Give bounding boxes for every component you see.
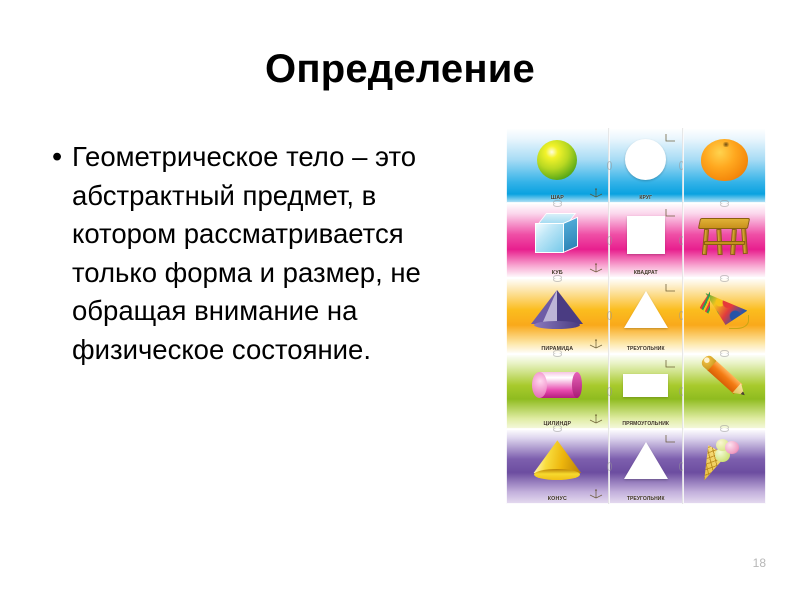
- right-angle-glyph-icon: [664, 208, 677, 219]
- flat-shape-label: КРУГ: [610, 195, 682, 201]
- right-angle-glyph-icon: [664, 434, 677, 445]
- orange-fruit-icon: [684, 132, 765, 187]
- bullet-icon: •: [52, 138, 72, 176]
- puzzle-nub-icon: [553, 429, 562, 433]
- solid-shape-cell: КОНУС: [506, 429, 609, 504]
- table-row: КОНУС ТРЕУГОЛЬНИК: [506, 429, 766, 504]
- flat-shape-label: ПРЯМОУГОЛЬНИК: [610, 421, 682, 427]
- puzzle-nub-icon: [720, 429, 729, 433]
- solid-shape-cell: ШАР: [506, 128, 609, 203]
- table-row: ЦИЛИНДР ПРЯМОУГОЛЬНИК: [506, 354, 766, 429]
- puzzle-nub-icon: [553, 278, 562, 282]
- real-object-cell: [683, 128, 766, 203]
- puzzle-nub-icon: [720, 203, 729, 207]
- right-angle-glyph-icon: [664, 283, 677, 294]
- page-title: Определение: [0, 47, 800, 91]
- cone-3d-icon: [507, 433, 608, 488]
- real-object-cell: [683, 429, 766, 504]
- sphere-3d-icon: [507, 132, 608, 187]
- definition-paragraph: Геометрическое тело – это абстрактный пр…: [72, 138, 482, 369]
- puzzle-nub-icon: [720, 278, 729, 282]
- real-object-cell: [683, 354, 766, 429]
- wooden-stool-icon: [684, 207, 765, 262]
- right-angle-glyph-icon: [664, 133, 677, 144]
- puzzle-nub-icon: [553, 354, 562, 358]
- puzzle-nub-icon: [720, 354, 729, 358]
- flat-shape-cell: ПРЯМОУГОЛЬНИК: [609, 354, 683, 429]
- cylinder-3d-icon: [507, 358, 608, 413]
- puzzle-nub-icon: [553, 203, 562, 207]
- solid-shape-cell: ПИРАМИДА: [506, 278, 609, 353]
- ice-cream-cone-icon: [684, 433, 765, 488]
- table-row: ШАР КРУГ: [506, 128, 766, 203]
- cube-3d-icon: [507, 207, 608, 262]
- solid-shape-cell: ЦИЛИНДР: [506, 354, 609, 429]
- flat-shape-label: КВАДРАТ: [610, 270, 682, 276]
- table-row: КУБ КВАДРАТ: [506, 203, 766, 278]
- list-item: • Геометрическое тело – это абстрактный …: [52, 138, 482, 369]
- flat-shape-cell: КРУГ: [609, 128, 683, 203]
- solid-shape-cell: КУБ: [506, 203, 609, 278]
- right-angle-glyph-icon: [664, 359, 677, 370]
- solid-shape-label: ПИРАМИДА: [507, 346, 608, 352]
- real-object-cell: [683, 203, 766, 278]
- solid-shape-label: КОНУС: [507, 496, 608, 502]
- slide-number: 18: [753, 556, 766, 570]
- pyramid-3d-icon: [507, 282, 608, 337]
- flat-shape-cell: КВАДРАТ: [609, 203, 683, 278]
- table-row: ПИРАМИДА ТРЕУГОЛЬНИК: [506, 278, 766, 353]
- flat-shape-label: ТРЕУГОЛЬНИК: [610, 496, 682, 502]
- flat-shape-label: ТРЕУГОЛЬНИК: [610, 346, 682, 352]
- solid-shape-label: ШАР: [507, 195, 608, 201]
- solid-shape-label: КУБ: [507, 270, 608, 276]
- body-text-block: • Геометрическое тело – это абстрактный …: [52, 138, 482, 369]
- party-hat-icon: [684, 282, 765, 337]
- pencil-icon: [684, 358, 765, 413]
- real-object-cell: [683, 278, 766, 353]
- flat-shape-cell: ТРЕУГОЛЬНИК: [609, 278, 683, 353]
- solid-shape-label: ЦИЛИНДР: [507, 421, 608, 427]
- flat-shape-cell: ТРЕУГОЛЬНИК: [609, 429, 683, 504]
- shapes-puzzle-chart: ШАР КРУГ: [506, 128, 766, 504]
